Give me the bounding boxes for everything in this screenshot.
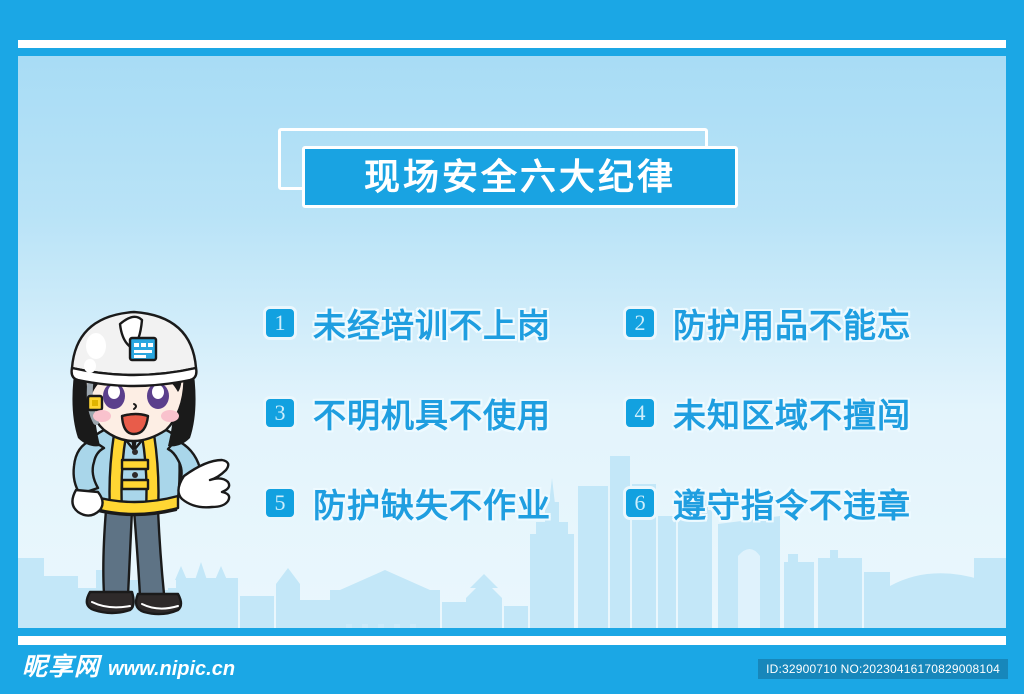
rule-number-badge-6: 6 [623,486,657,520]
rule-item-5: 5 防护缺失不作业 [263,458,623,548]
content-panel: 现场安全六大纪律 1 未经培训不上岗 2 防护用品不能忘 3 不明机具不使用 4… [18,56,1006,628]
rule-text-3: 不明机具不使用 [313,389,551,437]
title-banner: 现场安全六大纪律 [302,146,738,208]
rule-number-badge-5: 5 [263,486,297,520]
rule-number-badge-1: 1 [263,306,297,340]
rule-item-6: 6 遵守指令不违章 [623,458,993,548]
rule-number-badge-4: 4 [623,396,657,430]
rule-item-3: 3 不明机具不使用 [263,368,623,458]
top-blue-rule [18,48,1006,54]
worker-mascot-illustration [34,300,244,628]
rule-number-badge-3: 3 [263,396,297,430]
site-footer: 昵享网 www.nipic.cn ID:32900710 NO:20230416… [0,645,1024,694]
brand-logo[interactable]: 昵享网 www.nipic.cn [22,655,235,680]
top-white-rule [18,40,1006,48]
brand-name-cn: 昵享网 [22,655,100,680]
rule-text-1: 未经培训不上岗 [313,299,551,347]
rule-text-2: 防护用品不能忘 [673,299,911,347]
page-title: 现场安全六大纪律 [364,159,676,195]
rule-item-2: 2 防护用品不能忘 [623,278,993,368]
title-block: 现场安全六大纪律 [278,128,738,218]
asset-id-badge: ID:32900710 NO:20230416170829008104 [758,659,1008,679]
rule-text-6: 遵守指令不违章 [673,479,911,527]
rule-number-badge-2: 2 [623,306,657,340]
brand-url: www.nipic.cn [108,659,235,679]
rule-item-4: 4 未知区域不擅闯 [623,368,993,458]
rule-text-4: 未知区域不擅闯 [673,389,911,437]
rule-item-1: 1 未经培训不上岗 [263,278,623,368]
safety-poster: 现场安全六大纪律 1 未经培训不上岗 2 防护用品不能忘 3 不明机具不使用 4… [0,0,1024,694]
rule-text-5: 防护缺失不作业 [313,479,551,527]
rules-list: 1 未经培训不上岗 2 防护用品不能忘 3 不明机具不使用 4 未知区域不擅闯 … [263,278,993,548]
bottom-white-rule [18,636,1006,645]
